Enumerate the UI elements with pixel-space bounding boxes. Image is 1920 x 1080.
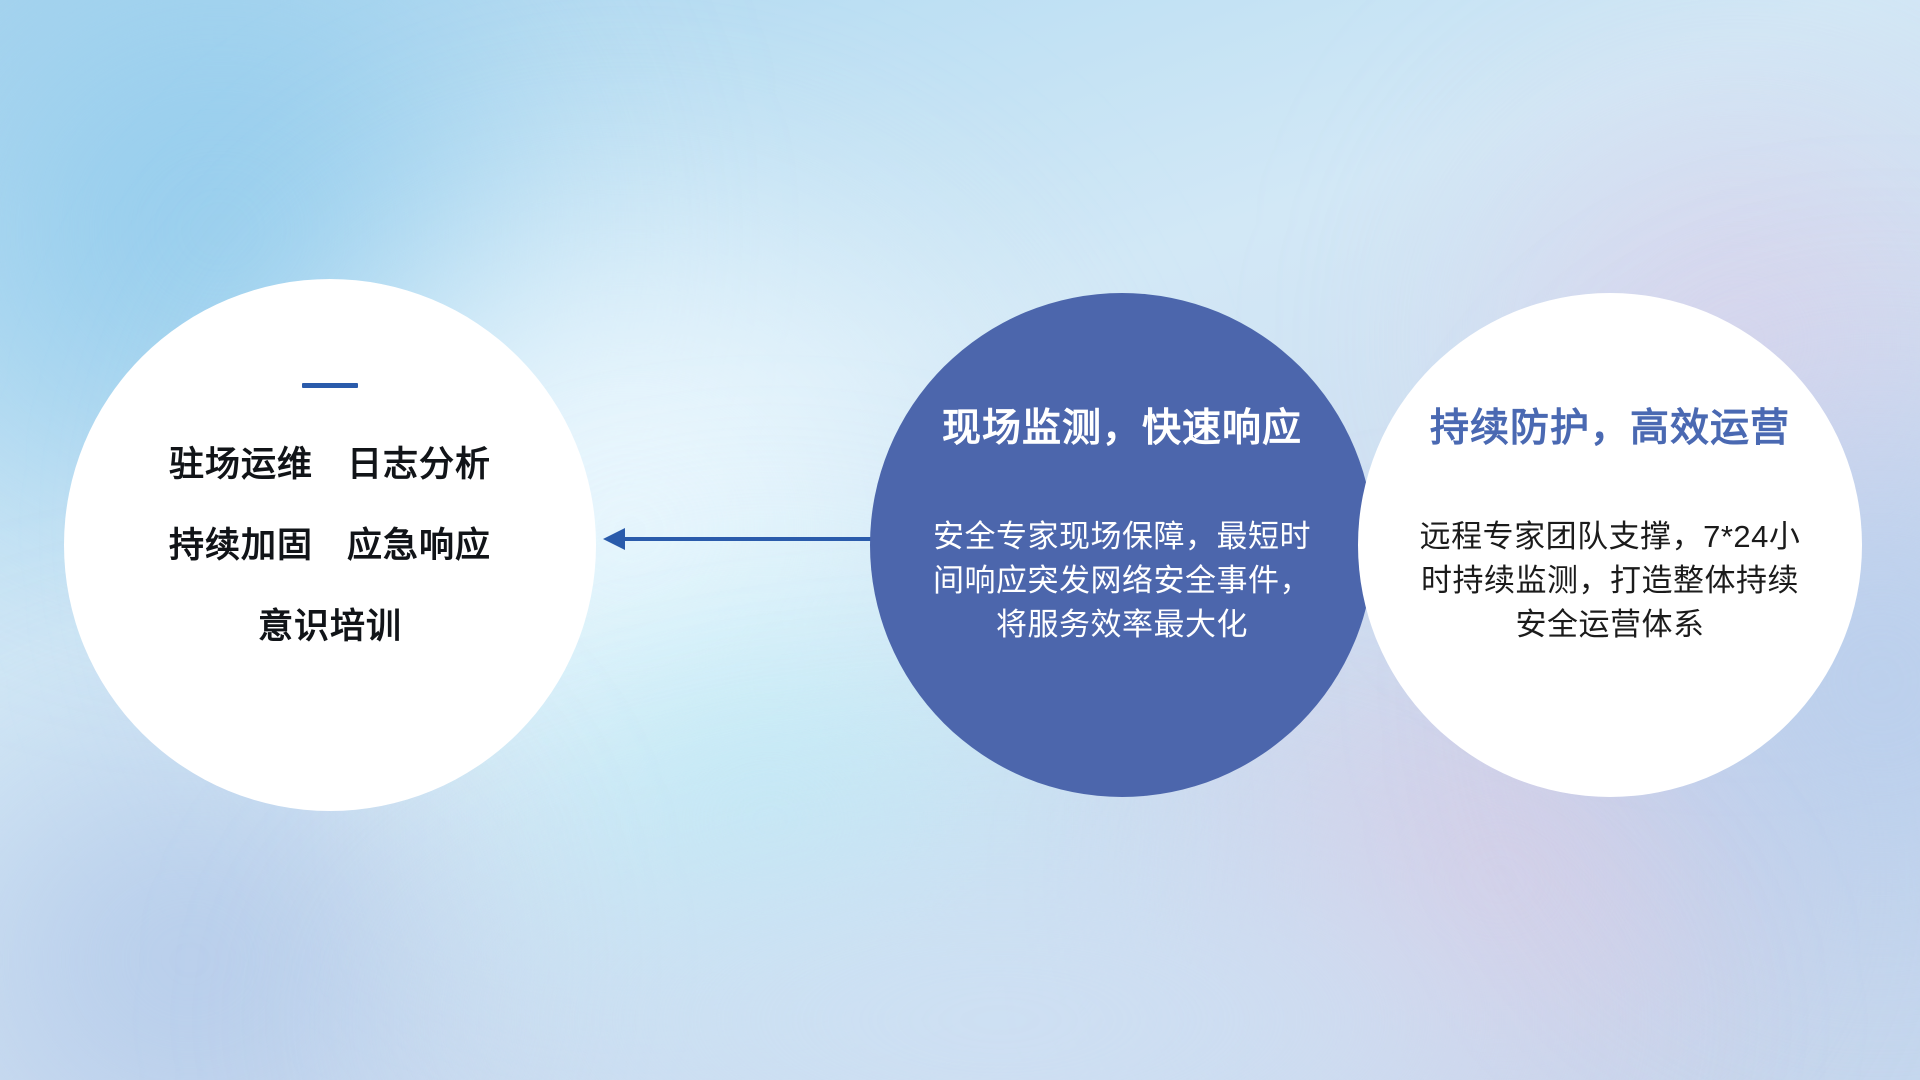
continuous-protection-circle: 持续防护，高效运营 远程专家团队支撑，7*24小时持续监测，打造整体持续安全运营… bbox=[1358, 293, 1862, 797]
continuous-protection-title: 持续防护，高效运营 bbox=[1430, 397, 1790, 453]
keyword-item: 驻场运维 bbox=[169, 436, 313, 487]
keyword-row: 意识培训 bbox=[115, 598, 545, 649]
connector-arrow-left-icon bbox=[595, 516, 895, 562]
keyword-row: 持续加固 应急响应 bbox=[115, 517, 545, 568]
keyword-item: 日志分析 bbox=[347, 436, 491, 487]
horizontal-dash-icon bbox=[302, 383, 358, 388]
onsite-monitoring-circle: 现场监测，快速响应 安全专家现场保障，最短时间响应突发网络安全事件，将服务效率最… bbox=[870, 293, 1374, 797]
capabilities-content: 驻场运维 日志分析 持续加固 应急响应 意识培训 bbox=[115, 383, 545, 679]
keyword-item: 持续加固 bbox=[169, 517, 313, 568]
keyword-row: 驻场运维 日志分析 bbox=[115, 436, 545, 487]
slide-canvas: 驻场运维 日志分析 持续加固 应急响应 意识培训 现场监测，快速响应 安全专家现… bbox=[0, 0, 1920, 1080]
onsite-monitoring-body: 安全专家现场保障，最短时间响应突发网络安全事件，将服务效率最大化 bbox=[931, 515, 1313, 647]
keyword-item: 意识培训 bbox=[258, 598, 402, 649]
capabilities-circle: 驻场运维 日志分析 持续加固 应急响应 意识培训 bbox=[64, 279, 596, 811]
onsite-monitoring-title: 现场监测，快速响应 bbox=[942, 397, 1302, 453]
keyword-item: 应急响应 bbox=[347, 517, 491, 568]
continuous-protection-body: 远程专家团队支撑，7*24小时持续监测，打造整体持续安全运营体系 bbox=[1410, 515, 1810, 647]
